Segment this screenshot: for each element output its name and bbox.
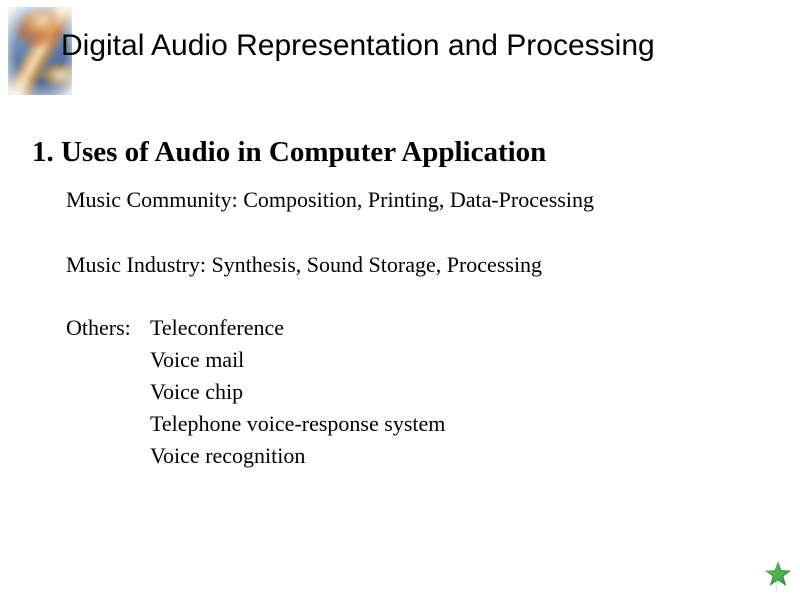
- body-line-music-community: Music Community: Composition, Printing, …: [66, 187, 594, 213]
- others-item-voice-mail: Voice mail: [150, 347, 445, 373]
- others-row: Others: Teleconference: [66, 315, 445, 347]
- others-item-voice-recognition: Voice recognition: [150, 443, 445, 469]
- others-item-telephone-voice-response-system: Telephone voice-response system: [150, 411, 445, 437]
- others-block: Others: Teleconference Voice mail Voice …: [66, 315, 445, 475]
- others-label: Others:: [66, 315, 150, 341]
- slide: Digital Audio Representation and Process…: [0, 0, 800, 600]
- others-row: Telephone voice-response system: [66, 411, 445, 443]
- page-number: 1: [774, 583, 779, 593]
- body-line-music-industry: Music Industry: Synthesis, Sound Storage…: [66, 252, 542, 278]
- others-row: Voice recognition: [66, 443, 445, 475]
- section-heading: 1. Uses of Audio in Computer Application: [32, 136, 546, 169]
- others-item-teleconference: Teleconference: [150, 315, 445, 341]
- others-row: Voice chip: [66, 379, 445, 411]
- others-row: Voice mail: [66, 347, 445, 379]
- others-item-voice-chip: Voice chip: [150, 379, 445, 405]
- page-title: Digital Audio Representation and Process…: [61, 24, 661, 68]
